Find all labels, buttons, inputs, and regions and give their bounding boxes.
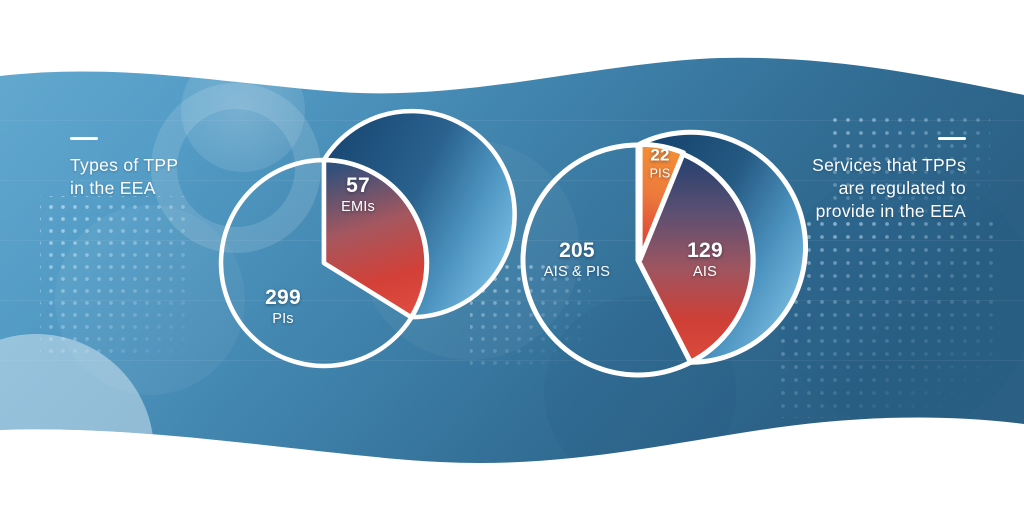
pie1-label-emis: 57 EMIs: [341, 175, 375, 217]
right-title-line-3: provide in the EEA: [816, 201, 966, 221]
infographic-canvas: Types of TPP in the EEA Services that TP…: [0, 0, 1024, 524]
right-divider-dash: [938, 137, 966, 140]
right-title-line-1: Services that TPPs: [812, 155, 966, 175]
pie2-ais-and-pis-category: AIS & PIS: [544, 263, 610, 282]
left-title-line-1: Types of TPP: [70, 155, 178, 175]
right-title-line-2: are regulated to: [839, 178, 966, 198]
pie2-ais-value: 129: [687, 240, 723, 262]
right-section-label: Services that TPPs are regulated to prov…: [812, 137, 966, 223]
pie2-pis-category: PIS: [650, 165, 671, 181]
right-section-title: Services that TPPs are regulated to prov…: [812, 154, 966, 223]
left-title-line-2: in the EEA: [70, 178, 156, 198]
pie2-ais-and-pis-value: 205: [544, 240, 610, 262]
pie2-label-pis: 22 PIS: [650, 146, 671, 181]
left-section-label: Types of TPP in the EEA: [70, 137, 178, 200]
pie1-pis-category: PIs: [265, 310, 301, 329]
pie2-ais-category: AIS: [687, 263, 723, 282]
pie1-emis-value: 57: [341, 175, 375, 197]
pie2-pis-value: 22: [650, 146, 671, 164]
pie-charts-layer: [0, 0, 1024, 524]
pie1-pis-value: 299: [265, 287, 301, 309]
pie2-label-ais: 129 AIS: [687, 240, 723, 282]
pie2-label-ais-and-pis: 205 AIS & PIS: [544, 240, 610, 282]
left-divider-dash: [70, 137, 98, 140]
pie1-label-pis: 299 PIs: [265, 287, 301, 329]
left-section-title: Types of TPP in the EEA: [70, 154, 178, 200]
pie1-emis-category: EMIs: [341, 198, 375, 217]
